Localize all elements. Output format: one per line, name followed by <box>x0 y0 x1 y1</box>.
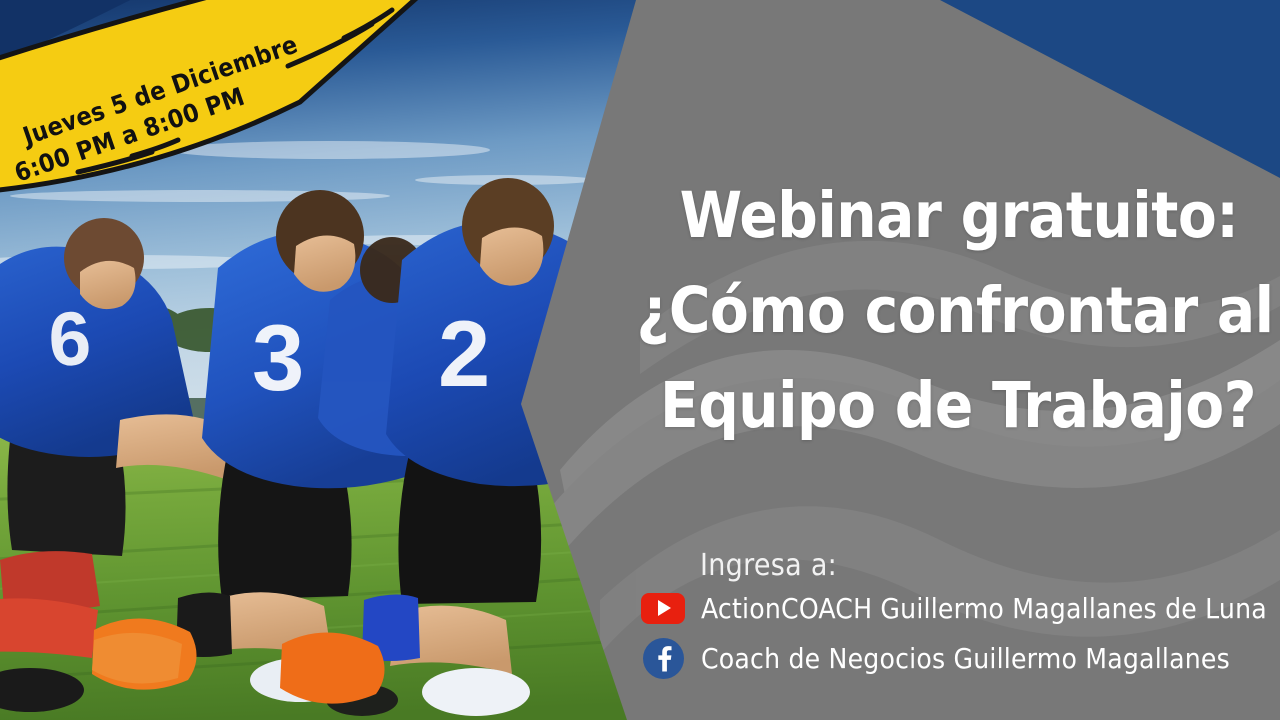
facebook-icon[interactable] <box>641 636 685 680</box>
youtube-icon[interactable] <box>641 586 685 630</box>
headline-line-3: Equipo de Trabajo? <box>628 358 1280 453</box>
headline: Webinar gratuito: ¿Cómo confrontar al Eq… <box>628 168 1280 453</box>
facebook-page-link[interactable]: Coach de Negocios Guillermo Magallanes <box>641 634 1271 682</box>
call-to-action: Ingresa a: ActionCOACH Guillermo Magalla… <box>641 548 1271 682</box>
webinar-promo-poster: 6 3 <box>0 0 1280 720</box>
facebook-page-label: Coach de Negocios Guillermo Magallanes <box>701 642 1230 675</box>
headline-line-1: Webinar gratuito: <box>628 168 1280 263</box>
date-time-ribbon: Jueves 5 de Diciembre 6:00 PM a 8:00 PM <box>0 0 460 210</box>
headline-line-2: ¿Cómo confrontar al <box>628 263 1280 358</box>
cta-lead-text: Ingresa a: <box>700 548 1271 584</box>
youtube-channel-label: ActionCOACH Guillermo Magallanes de Luna <box>701 592 1267 625</box>
svg-text:6: 6 <box>46 296 93 383</box>
svg-text:3: 3 <box>252 305 304 410</box>
youtube-channel-link[interactable]: ActionCOACH Guillermo Magallanes de Luna <box>641 584 1271 632</box>
svg-text:2: 2 <box>438 301 490 406</box>
